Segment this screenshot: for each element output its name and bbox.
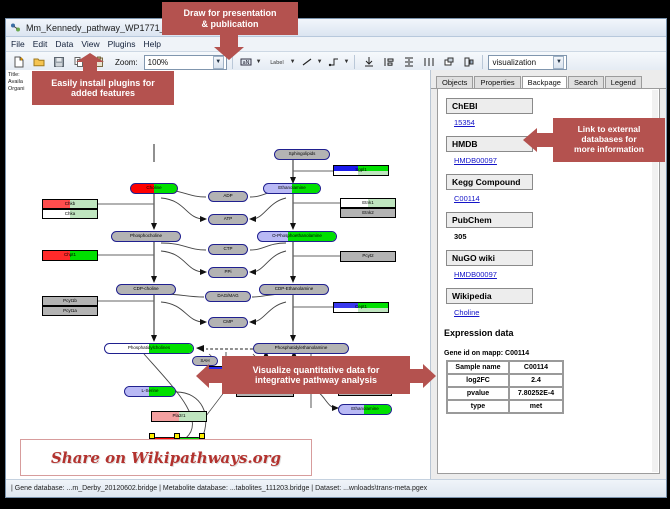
node-label: PPi xyxy=(224,270,231,275)
svg-text:aN: aN xyxy=(243,60,250,66)
line-tool-group[interactable]: ▼ xyxy=(299,54,323,71)
metabolite-choline[interactable]: Choline xyxy=(130,183,178,194)
node-label: Pcyt1a xyxy=(63,309,77,314)
node-label: Ethanolamine xyxy=(278,186,306,191)
expr-key-sample-name: Sample name xyxy=(447,361,509,374)
metabolite-sphingolipids[interactable]: Sphingolipids xyxy=(274,149,330,160)
gene-pcyt1a[interactable]: Pcyt1a xyxy=(42,306,98,316)
expression-data-heading: Expression data xyxy=(444,328,659,338)
gene-id-on-mapp: Gene id on mapp: C00114 xyxy=(444,350,659,357)
metabolite-phosphocholine[interactable]: Phosphocholine xyxy=(111,231,181,242)
callout-visualize-arrow-left xyxy=(196,364,224,388)
db-name-hmdb: HMDB xyxy=(446,136,533,152)
metabolite-atp[interactable]: ATP xyxy=(208,214,248,225)
table-row: pvalue 7.80252E-4 xyxy=(447,387,563,400)
node-label: Pla2r1 xyxy=(172,414,185,419)
gene-pcyt1b[interactable]: Pcyt1b xyxy=(42,296,98,306)
toolbar-divider xyxy=(354,55,355,69)
visualization-combobox[interactable]: visualization ▼ xyxy=(488,55,567,70)
node-label: Pcyt1b xyxy=(63,299,77,304)
node-label: CDP-Ethanolamine xyxy=(275,287,314,292)
callout-draw-line1: Draw for presentation xyxy=(183,8,276,18)
node-label: Sgpl1 xyxy=(355,168,367,173)
align-left-icon[interactable] xyxy=(380,54,397,71)
new-file-button[interactable] xyxy=(10,54,27,71)
callout-visualize-line2: integrative pathway analysis xyxy=(255,375,377,385)
metabolite-phosphatidylethanolamine[interactable]: Phosphatidylethanolamine xyxy=(253,343,349,354)
node-label: DAG/MAG xyxy=(217,294,238,299)
node-label: CTP xyxy=(224,247,233,252)
db-block-pubchem: PubChem 305 xyxy=(446,210,659,241)
metabolite-ppi[interactable]: PPi xyxy=(208,267,248,278)
db-name-pubchem: PubChem xyxy=(446,212,533,228)
gene-pcyt2[interactable]: Pcyt2 xyxy=(340,251,396,262)
zoom-value: 100% xyxy=(148,58,168,67)
node-label: Chkb xyxy=(65,202,76,207)
menubar: File Edit Data View Plugins Help xyxy=(6,37,666,52)
expr-value-sample-name: C00114 xyxy=(509,361,563,374)
menu-data[interactable]: Data xyxy=(55,39,73,49)
metabolite-l-serine-left[interactable]: L-Serine xyxy=(124,386,176,397)
metabolite-phosphatidylcholines[interactable]: Phosphatidylcholines xyxy=(104,343,194,354)
db-block-nugo: NuGO wiki HMDB00097 xyxy=(446,248,659,279)
toolbar-divider xyxy=(482,55,483,69)
callout-links-arrow xyxy=(523,128,555,152)
callout-visualize-line1: Visualize quantitative data for xyxy=(253,365,380,375)
metabolite-cmp[interactable]: CMP xyxy=(208,317,248,328)
callout-plugins-line2: added features xyxy=(71,88,135,98)
node-label: Etnk1 xyxy=(362,201,374,206)
menu-help[interactable]: Help xyxy=(144,39,161,49)
gene-chpt1[interactable]: Chpt1 xyxy=(42,250,98,261)
stack-horizontal-icon[interactable] xyxy=(420,54,437,71)
gene-pla2r1[interactable]: Pla2r1 xyxy=(151,411,207,422)
expr-key-pvalue: pvalue xyxy=(447,387,509,400)
menu-file[interactable]: File xyxy=(11,39,25,49)
node-label: Cept1 xyxy=(355,305,367,310)
callout-plugins-arrow xyxy=(76,53,104,73)
node-label: ATP xyxy=(224,217,232,222)
label-icon[interactable]: Label xyxy=(265,54,289,71)
db-name-nugo: NuGO wiki xyxy=(446,250,533,266)
gene-chka[interactable]: Chka xyxy=(42,209,98,219)
gene-sgpl1[interactable]: Sgpl1 xyxy=(333,165,389,176)
window-titlebar: Mm_Kennedy_pathway_WP1771_45176.gpml xyxy=(6,19,666,37)
pathvisio-icon xyxy=(10,22,21,33)
chevron-down-icon[interactable]: ▼ xyxy=(344,59,350,65)
callout-draw: Draw for presentation & publication xyxy=(162,2,298,35)
expr-key-type: type xyxy=(447,400,509,413)
node-label: Phosphatidylcholines xyxy=(128,346,170,351)
callout-draw-arrow xyxy=(214,34,244,60)
menu-view[interactable]: View xyxy=(81,39,99,49)
node-label: O-Phosphoethanolamine xyxy=(272,234,322,239)
node-label: Chpt1 xyxy=(64,253,76,258)
db-link-nugo[interactable]: HMDB00097 xyxy=(454,270,659,279)
db-block-wikipedia: Wikipedia Choline xyxy=(446,286,659,317)
node-label: CMP xyxy=(223,320,233,325)
order-front-icon[interactable] xyxy=(460,54,477,71)
chevron-down-icon[interactable]: ▼ xyxy=(256,59,262,65)
open-folder-button[interactable] xyxy=(30,54,47,71)
db-name-kegg: Kegg Compound xyxy=(446,174,533,190)
metabolite-cdp-ethanolamine[interactable]: CDP-Ethanolamine xyxy=(259,284,329,295)
callout-visualize-arrow-right xyxy=(408,364,436,388)
tab-objects[interactable]: Objects xyxy=(436,76,473,88)
metabolite-ctp[interactable]: CTP xyxy=(208,244,248,255)
callout-plugins: Easily install plugins for added feature… xyxy=(32,71,174,105)
interaction-tool-group[interactable]: ▼ xyxy=(326,54,350,71)
node-label: ADP xyxy=(223,194,232,199)
metabolite-o-phosphoethanolamine[interactable]: O-Phosphoethanolamine xyxy=(257,231,337,242)
node-label: Phosphatidylethanolamine xyxy=(275,346,328,351)
node-label: Choline xyxy=(146,186,161,191)
callout-draw-line2: & publication xyxy=(201,19,258,29)
db-name-chebi: ChEBI xyxy=(446,98,533,114)
gene-etnk1[interactable]: Etnk1 xyxy=(340,198,396,208)
node-label: Pcyt2 xyxy=(362,254,373,259)
chevron-down-icon[interactable]: ▼ xyxy=(553,56,564,69)
line-icon[interactable] xyxy=(299,54,316,71)
share-callout-text: Share on Wikipathways.org xyxy=(51,449,281,467)
menu-edit[interactable]: Edit xyxy=(33,39,48,49)
tab-properties[interactable]: Properties xyxy=(474,76,520,88)
node-label: Ethanolamine xyxy=(351,407,379,412)
visualization-value: visualization xyxy=(492,58,536,67)
metabolite-dagmag[interactable]: DAG/MAG xyxy=(205,291,251,302)
expression-table: Sample name C00114 log2FC 2.4 pvalue 7.8… xyxy=(446,360,564,414)
expr-key-log2fc: log2FC xyxy=(447,374,509,387)
table-row: Sample name C00114 xyxy=(447,361,563,374)
screenshot-root: Mm_Kennedy_pathway_WP1771_45176.gpml Fil… xyxy=(0,0,670,509)
gene-chkb[interactable]: Chkb xyxy=(42,199,98,209)
callout-plugins-line1: Easily install plugins for xyxy=(51,78,155,88)
label-tool-group[interactable]: Label ▼ xyxy=(265,54,296,71)
zoom-label: Zoom: xyxy=(115,58,138,67)
db-value-pubchem: 305 xyxy=(454,232,659,241)
chevron-down-icon[interactable]: ▼ xyxy=(317,59,323,65)
db-name-wikipedia: Wikipedia xyxy=(446,288,533,304)
table-row: log2FC 2.4 xyxy=(447,374,563,387)
metabolite-ethanolamine-top[interactable]: Ethanolamine xyxy=(263,183,321,194)
node-label: SAH xyxy=(200,359,209,364)
svg-text:Label: Label xyxy=(270,60,284,66)
expr-value-pvalue: 7.80252E-4 xyxy=(509,387,563,400)
expr-value-log2fc: 2.4 xyxy=(509,374,563,387)
callout-links-line3: more information xyxy=(574,144,644,154)
sidepanel-tabs: Objects Properties Backpage Search Legen… xyxy=(431,70,666,89)
statusbar: | Gene database: ...m_Derby_20120602.bri… xyxy=(6,479,666,497)
expr-value-type: met xyxy=(509,400,563,413)
save-file-button[interactable] xyxy=(50,54,67,71)
tab-search[interactable]: Search xyxy=(568,76,604,88)
node-label: Phosphocholine xyxy=(130,234,162,239)
node-label: CDP-choline xyxy=(133,287,158,292)
align-top-icon[interactable] xyxy=(360,54,377,71)
gene-cept1[interactable]: Cept1 xyxy=(333,302,389,313)
db-link-kegg[interactable]: C00114 xyxy=(454,194,659,203)
node-label: Sphingolipids xyxy=(289,152,316,157)
callout-links: Link to external databases for more info… xyxy=(553,118,665,162)
chevron-down-icon[interactable]: ▼ xyxy=(290,59,296,65)
db-link-wikipedia[interactable]: Choline xyxy=(454,308,659,317)
order-back-icon[interactable] xyxy=(440,54,457,71)
callout-links-line1: Link to external xyxy=(578,124,641,134)
metabolite-adp[interactable]: ADP xyxy=(208,191,248,202)
statusbar-text: | Gene database: ...m_Derby_20120602.bri… xyxy=(6,485,427,492)
metabolite-ethanolamine-bottom[interactable]: Ethanolamine xyxy=(338,404,392,415)
node-label: Etnk2 xyxy=(362,211,374,216)
menu-plugins[interactable]: Plugins xyxy=(108,39,136,49)
stack-vertical-icon[interactable] xyxy=(400,54,417,71)
metabolite-cdp-choline[interactable]: CDP-choline xyxy=(116,284,176,295)
gene-etnk2[interactable]: Etnk2 xyxy=(340,208,396,218)
pathway-canvas[interactable]: Title: Availa Organi xyxy=(6,70,431,480)
callout-links-line2: databases for xyxy=(581,134,636,144)
db-block-kegg: Kegg Compound C00114 xyxy=(446,172,659,203)
callout-visualize: Visualize quantitative data for integrat… xyxy=(222,356,410,394)
table-row: type met xyxy=(447,400,563,413)
tab-legend[interactable]: Legend xyxy=(605,76,642,88)
node-label: L-Serine xyxy=(141,389,158,394)
share-callout: Share on Wikipathways.org xyxy=(20,439,312,476)
node-label: Chka xyxy=(65,212,76,217)
interaction-icon[interactable] xyxy=(326,54,343,71)
